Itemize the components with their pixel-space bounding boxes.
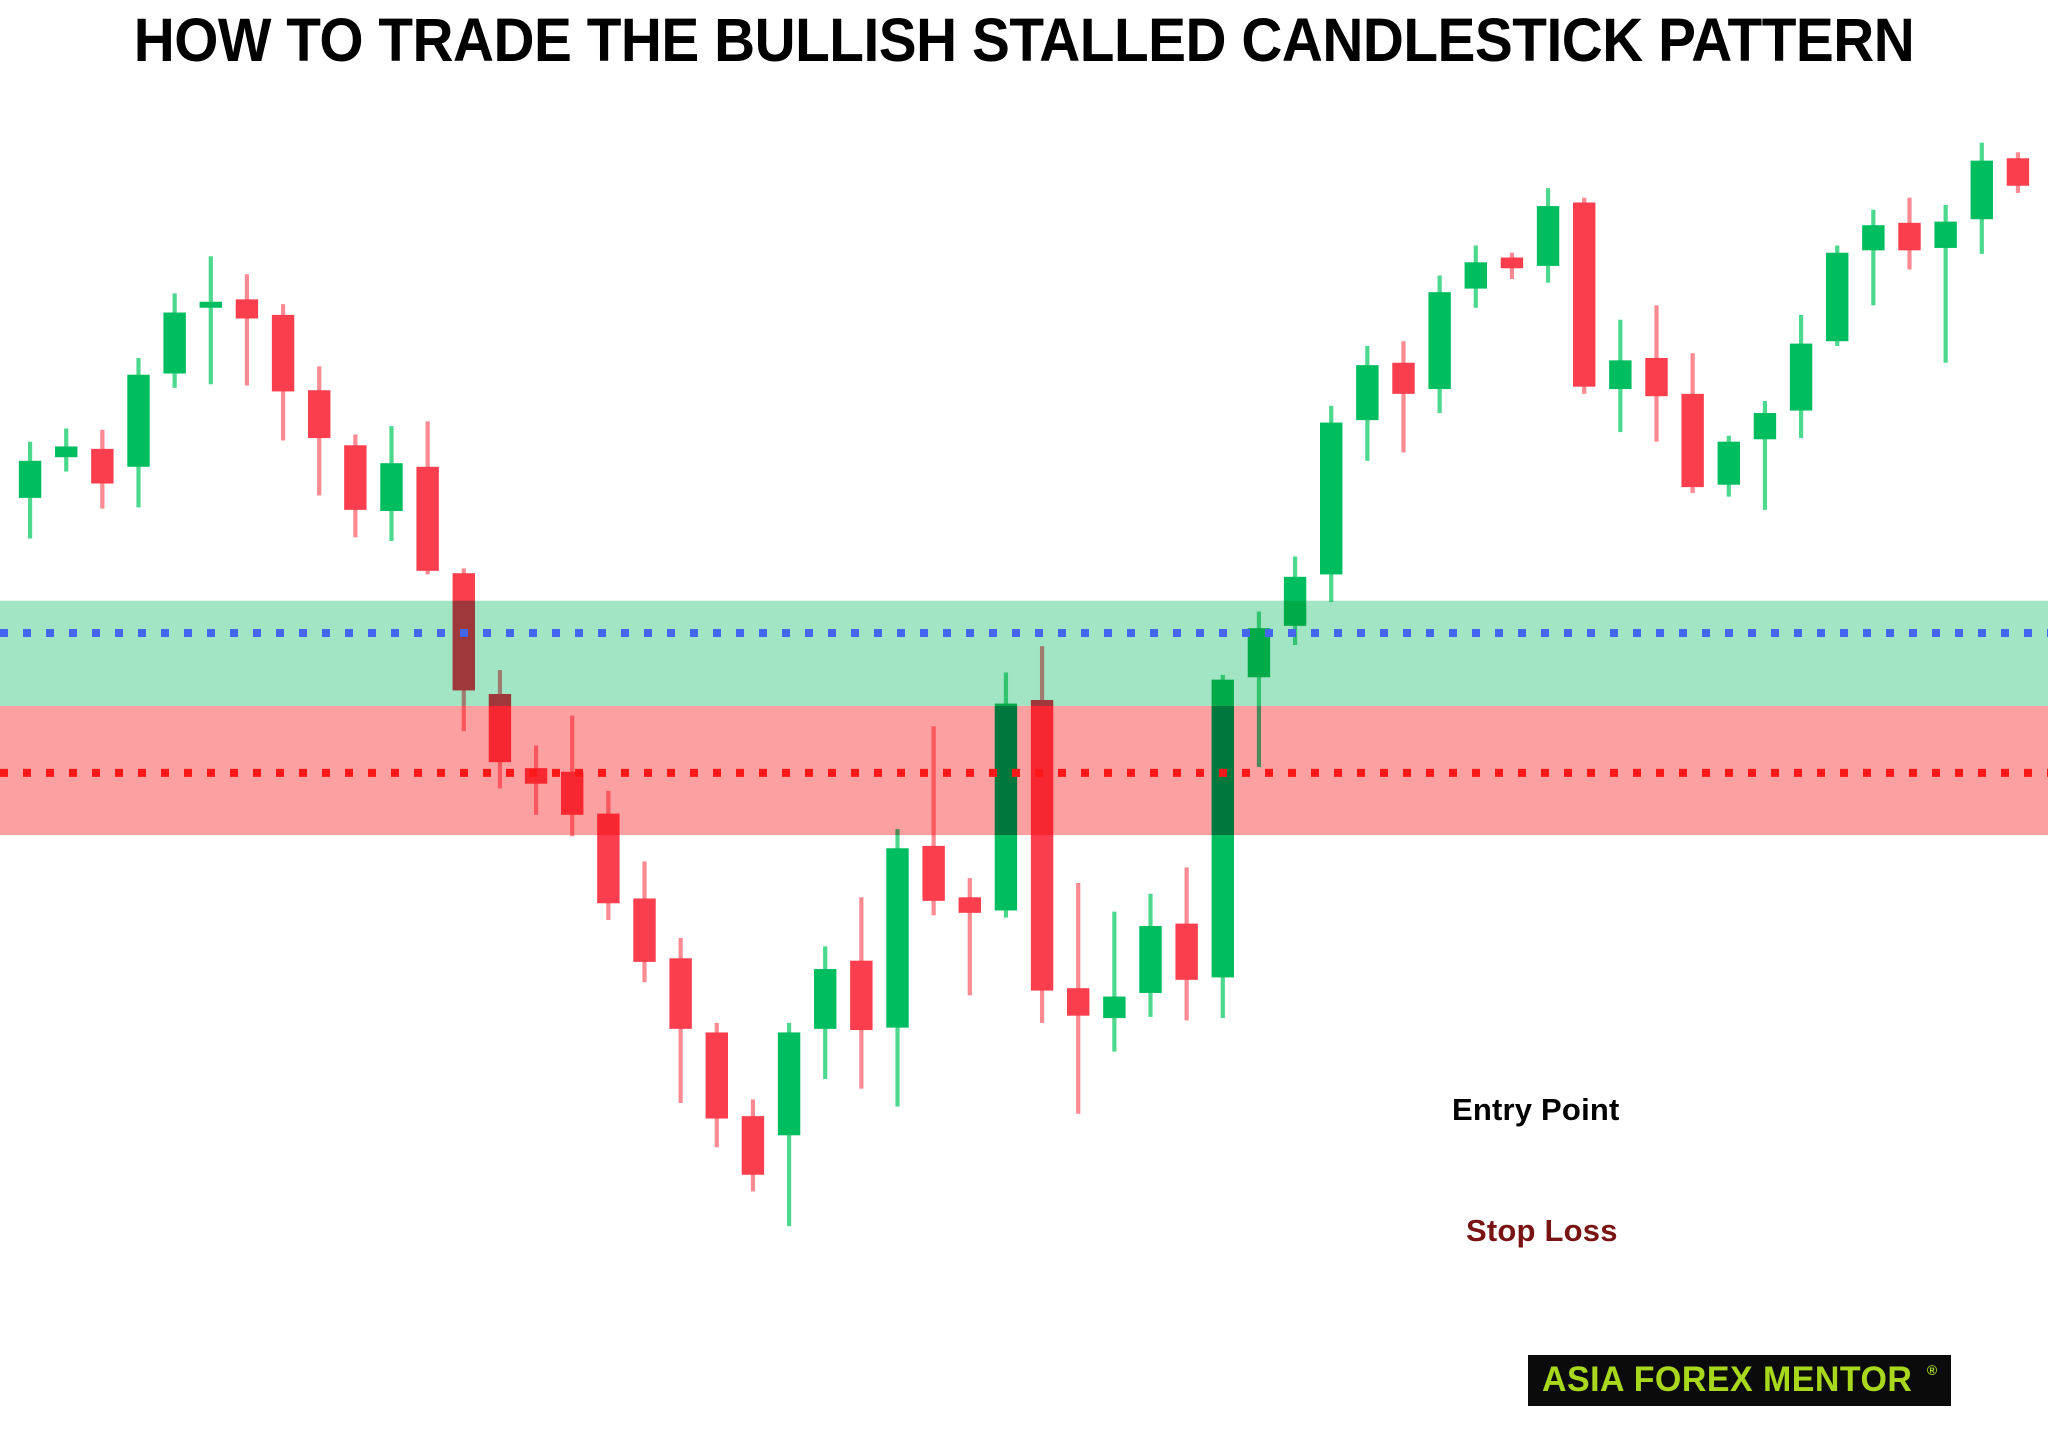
candle-body (1718, 442, 1740, 485)
stop-loss-label: Stop Loss (1466, 1213, 1618, 1249)
candle-body (380, 463, 402, 511)
candle-body (633, 898, 655, 961)
candle-body (669, 958, 691, 1029)
candle-body (1392, 363, 1414, 394)
candle-body (308, 390, 330, 438)
candle-body (2007, 158, 2029, 186)
candlestick-chart (0, 96, 2048, 1292)
candle-body (1826, 253, 1848, 341)
candle (1573, 198, 1595, 394)
candle-body (778, 1032, 800, 1135)
candle-body (1537, 206, 1559, 266)
candle-body (850, 961, 872, 1030)
candle-body (922, 846, 944, 901)
candle-body (1681, 394, 1703, 487)
candle-wick (245, 274, 249, 385)
candle-body (416, 467, 438, 571)
entry-point-label: Entry Point (1452, 1092, 1620, 1128)
candle-body (1971, 161, 1993, 220)
candle-body (1645, 358, 1667, 396)
candle (1212, 675, 1234, 1018)
registered-trademark-icon: ® (1927, 1363, 1937, 1377)
candle-body (19, 461, 41, 498)
candle-body (55, 446, 77, 457)
candle-wick (968, 878, 972, 995)
candle-body (1501, 258, 1523, 269)
infographic-canvas: HOW TO TRADE THE BULLISH STALLED CANDLES… (0, 0, 2048, 1448)
page-title: HOW TO TRADE THE BULLISH STALLED CANDLES… (72, 8, 1977, 72)
candle-body (1031, 700, 1053, 991)
candle-body (1356, 365, 1378, 420)
candle-body (706, 1032, 728, 1118)
candle-body (1320, 423, 1342, 575)
candle-body (1212, 680, 1234, 978)
candle-body (995, 704, 1017, 911)
candle-wick (1401, 341, 1405, 452)
candle-body (163, 313, 185, 374)
candle-body (91, 449, 113, 484)
candle (1031, 646, 1053, 1023)
candle-body (1790, 344, 1812, 411)
chart-svg (0, 96, 2048, 1292)
candle-body (1862, 225, 1884, 250)
candle-body (1428, 292, 1450, 389)
zones-layer (0, 601, 2048, 835)
candle-wick (209, 256, 213, 384)
candle-body (1609, 360, 1631, 389)
candle (995, 672, 1017, 917)
candle (1320, 406, 1342, 602)
candle-body (200, 302, 222, 308)
candle-wick (1871, 210, 1875, 306)
candle-body (1103, 997, 1125, 1019)
candle-body (1754, 413, 1776, 439)
candle-body (814, 969, 836, 1029)
candle-body (561, 772, 583, 815)
candle-body (886, 848, 908, 1027)
candle-body (127, 375, 149, 467)
candle-body (344, 445, 366, 510)
candle-body (597, 814, 619, 904)
candle-body (272, 315, 294, 392)
brand-logo: ASIA FOREX MENTOR ® (1528, 1355, 1951, 1406)
candle-body (1067, 988, 1089, 1016)
candle-body (1898, 223, 1920, 251)
zone-stop-zone (0, 706, 2048, 835)
candle-body (959, 897, 981, 913)
candle-body (1465, 262, 1487, 288)
candle-wick (1112, 912, 1116, 1052)
candle-body (489, 694, 511, 762)
brand-logo-text: ASIA FOREX MENTOR (1542, 1362, 1912, 1397)
zone-entry-zone (0, 601, 2048, 706)
candle-body (1284, 577, 1306, 626)
candle-body (1934, 222, 1956, 248)
candle-body (1175, 924, 1197, 980)
candle (1826, 246, 1848, 346)
candle-body (1573, 202, 1595, 386)
candle-body (236, 299, 258, 318)
candle-body (1139, 926, 1161, 993)
candle-body (742, 1116, 764, 1175)
